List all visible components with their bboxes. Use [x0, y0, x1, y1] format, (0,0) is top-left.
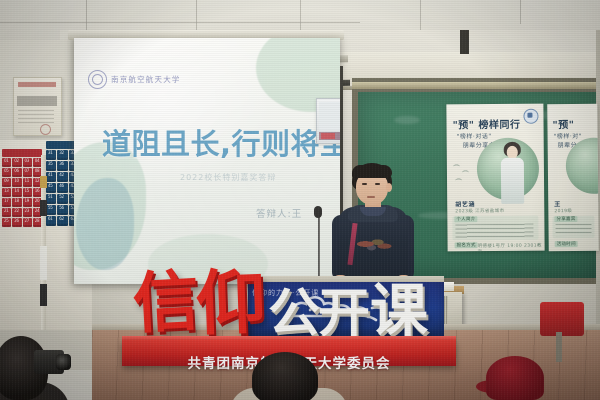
pocket-number: 03 — [25, 159, 30, 163]
pocket-cell: 09 — [2, 178, 11, 187]
poster-person-name-2: 王 — [554, 199, 561, 208]
bird-icon — [453, 164, 460, 169]
pocket-cell: 14 — [12, 188, 21, 197]
sign-char-3: 公 — [268, 288, 320, 340]
poster-body-note: 明德楼1号厅 19:00 2301教室 — [478, 243, 545, 252]
pocket-number: 07 — [25, 169, 30, 173]
sign-char-1: 信 — [131, 268, 200, 337]
microphone-icon — [314, 206, 322, 218]
pocket-cell: 03 — [23, 158, 32, 167]
slide-decor-blob — [76, 178, 134, 270]
pocket-number: 19 — [25, 199, 30, 203]
pocket-number: 21 — [4, 209, 9, 213]
pocket-number: 23 — [25, 209, 30, 213]
ceiling-tile-seam — [0, 22, 360, 23]
pocket-cell: 02 — [12, 158, 21, 167]
notice-seal-icon — [40, 124, 51, 135]
pocket-cell: 46 — [57, 183, 67, 193]
chalk-smudge — [394, 116, 420, 124]
sign-char-5: 课 — [370, 282, 428, 340]
ceiling-tile-seam — [420, 0, 421, 34]
pocket-cell: 62 — [57, 216, 67, 226]
pocket-cell: 06 — [12, 168, 21, 177]
notice-body-lines — [18, 110, 54, 124]
pocket-cell: 22 — [12, 208, 21, 217]
red-chair — [540, 302, 584, 336]
pocket-number: 42 — [59, 173, 64, 177]
pocket-number: 45 — [48, 184, 53, 188]
pocket-number: 17 — [4, 199, 9, 203]
pocket-cell: 25 — [2, 218, 11, 227]
rod-segment — [40, 284, 47, 306]
pocket-cell: 51 — [46, 194, 56, 204]
poster-seal-icon — [523, 109, 538, 124]
pocket-number: 18 — [14, 199, 19, 203]
pocket-number: 28 — [35, 219, 40, 223]
pocket-cell: 15 — [23, 188, 32, 197]
slide-presenter-label: 答辩人:王 — [256, 206, 302, 220]
poster-block-label-2: 报名方式 — [455, 242, 478, 248]
pocket-number: 02 — [14, 159, 19, 163]
pocket-cell: 52 — [57, 194, 67, 204]
pocket-number: 22 — [14, 209, 19, 213]
pocket-number: 41 — [48, 173, 53, 177]
poster-title-2: "预" — [552, 116, 574, 131]
pocket-number: 31 — [48, 151, 53, 155]
pocket-number: 13 — [4, 189, 9, 193]
pocket-number: 52 — [59, 195, 64, 199]
slide-subtitle: 2022校长特别嘉奖答辩 — [180, 172, 276, 183]
rod-cap — [40, 176, 47, 188]
pocket-cell: 27 — [23, 218, 32, 227]
camera-lens-icon — [56, 354, 71, 370]
pocket-number: 12 — [35, 179, 40, 183]
audience-red-cap — [486, 356, 544, 400]
pocket-cell: 42 — [57, 172, 67, 182]
pocket-number: 35 — [48, 162, 53, 166]
pocket-cell: 32 — [57, 150, 67, 160]
pocket-number: 46 — [59, 184, 64, 188]
pocket-chart-red: 0102030405060708091011121314151617181920… — [2, 158, 42, 227]
pocket-cell: 36 — [57, 161, 67, 171]
pocket-cell: 31 — [46, 150, 56, 160]
chalkboard-top-lip — [352, 82, 600, 89]
pocket-number: 55 — [48, 206, 53, 210]
presenter-eye-right — [375, 183, 380, 185]
poster-block-label: 个人简介 — [454, 216, 477, 222]
poster-date-line-2: 2019级 — [554, 208, 572, 214]
slide-title: 道阻且长,行则将至 — [102, 130, 332, 159]
pocket-number: 10 — [14, 179, 19, 183]
poster-block-label-b: 分享嘉宾 — [554, 216, 577, 222]
presenter-eye-left — [362, 183, 367, 185]
pocket-number: 08 — [35, 169, 40, 173]
poster-body-lines — [455, 224, 533, 239]
poster-block-label-b2: 活动时间 — [555, 241, 578, 247]
pocket-cell: 21 — [2, 208, 11, 217]
figure-body — [501, 158, 524, 204]
poster-figure — [497, 142, 528, 204]
pocket-number: 01 — [4, 159, 9, 163]
rod-segment — [40, 246, 47, 280]
pocket-number: 15 — [25, 189, 30, 193]
pocket-cell: 26 — [12, 218, 21, 227]
bird-icon — [455, 178, 462, 183]
pocket-number: 16 — [35, 189, 40, 193]
presenter-mouth — [367, 196, 375, 198]
pocket-number: 27 — [25, 219, 30, 223]
pocket-number: 51 — [48, 195, 53, 199]
poster-body-lines-2 — [555, 224, 591, 236]
pocket-cell: 05 — [2, 168, 11, 177]
poster-person-name: 胡艺涵 — [455, 199, 475, 208]
chair-leg — [556, 332, 562, 362]
projection-screen: 南京航空航天大学 道阻且长,行则将至 2022校长特别嘉奖答辩 答辩人:王 — [74, 38, 340, 284]
notice-title-bar — [18, 82, 56, 87]
pocket-cell: 45 — [46, 183, 56, 193]
pocket-cell: 56 — [57, 205, 67, 215]
video-badge — [321, 133, 335, 139]
pocket-number: 04 — [35, 159, 40, 163]
pocket-number: 14 — [14, 189, 19, 193]
bird-icon — [462, 170, 469, 175]
pocket-number: 20 — [35, 199, 40, 203]
pocket-cell: 11 — [23, 178, 32, 187]
pocket-number: 62 — [59, 217, 64, 221]
poster-date-line: 2023级 江苏省盐城市 — [455, 208, 504, 214]
pocket-number: 26 — [14, 219, 19, 223]
pocket-chart-header-red — [2, 149, 42, 157]
pocket-number: 56 — [59, 206, 64, 210]
slide-university-logo: 南京航空航天大学 — [88, 70, 181, 89]
pocket-number: 32 — [59, 151, 64, 155]
poster-subtitle: "榜样·对话" — [457, 131, 492, 140]
pocket-cell: 19 — [23, 198, 32, 207]
ceiling-tile-seam — [520, 0, 521, 24]
door-jamb — [460, 30, 469, 54]
pocket-cell: 07 — [23, 168, 32, 177]
pocket-cell: 18 — [12, 198, 21, 207]
pocket-cell: 10 — [12, 178, 21, 187]
poster-title: "预" 榜样同行 — [452, 116, 520, 132]
pocket-cell: 41 — [46, 172, 56, 182]
pocket-number: 11 — [25, 179, 30, 183]
video-main-pane — [319, 102, 340, 130]
pocket-cell: 23 — [23, 208, 32, 217]
rod-segment — [40, 200, 47, 216]
sign-char-2: 仰 — [195, 267, 267, 339]
university-seal-icon — [88, 70, 107, 89]
pocket-number: 25 — [4, 219, 9, 223]
pocket-number: 24 — [35, 209, 40, 213]
wall-poster-primary: "预" 榜样同行 "榜样·对话" 朋辈分享会 胡艺涵 2023级 江苏省盐城市 … — [446, 104, 544, 252]
pocket-number: 36 — [59, 162, 64, 166]
slide-video-window — [316, 98, 340, 144]
pocket-cell: 61 — [46, 216, 56, 226]
audience-head — [252, 352, 318, 400]
university-logo-text: 南京航空航天大学 — [111, 74, 181, 85]
hoodie-graphic-print — [354, 235, 392, 253]
pocket-cell: 35 — [46, 161, 56, 171]
sign-char-4: 开 — [318, 288, 370, 340]
notice-heading-band — [17, 96, 57, 106]
pocket-cell: 01 — [2, 158, 11, 167]
presenter-ear — [386, 183, 392, 192]
pocket-cell: 17 — [2, 198, 11, 207]
classroom-presentation-photo: 0102030405060708091011121314151617181920… — [0, 0, 600, 400]
poster-subtitle-b: "榜样·对" — [554, 131, 583, 140]
pocket-number: 61 — [48, 217, 53, 221]
pocket-number: 06 — [14, 169, 19, 173]
presenter-fringe — [352, 165, 392, 178]
pocket-cell: 13 — [2, 188, 11, 197]
wall-poster-secondary: "预" "榜样·对" 朋辈分 王 2019级 分享嘉宾 活动时间 — [547, 104, 599, 252]
pocket-number: 05 — [4, 169, 9, 173]
pocket-number: 09 — [4, 179, 9, 183]
pocket-cell: 55 — [46, 205, 56, 215]
